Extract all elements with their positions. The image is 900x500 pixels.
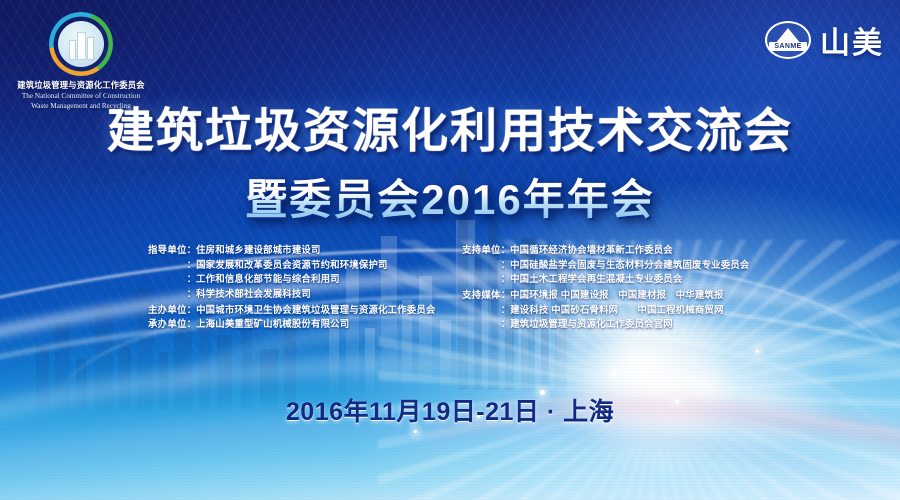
sanme-logo: SANME 山美: [765, 18, 884, 62]
org-separator-spacer: ：: [501, 258, 510, 273]
org-separator-spacer: ：: [501, 317, 510, 332]
org-separator-spacer: ：: [187, 287, 196, 302]
org-value: 中国硅酸盐学会固废与生态材料分会建筑固废专业委员会: [510, 258, 749, 273]
org-separator-spacer: ：: [501, 303, 510, 318]
org-row-guidance: 指导单位 ： 科学技术部社会发展科技司: [148, 287, 435, 302]
page-title: 建筑垃圾资源化利用技术交流会: [0, 92, 900, 161]
org-separator: ：: [187, 317, 196, 332]
sanme-brand-cn: 山美: [820, 18, 884, 62]
org-value: 中国环境报 中国建设报 中国建材报 中华建筑报: [510, 288, 723, 303]
page-subtitle: 暨委员会2016年年会: [0, 166, 900, 227]
organization-column-left: 指导单位 ： 住房和城乡建设部城市建设司 指导单位 ： 国家发展和改革委员会资源…: [148, 243, 435, 332]
org-value: 科学技术部社会发展科技司: [196, 287, 311, 302]
org-separator-spacer: ：: [187, 272, 196, 287]
org-row-guidance: 指导单位 ： 工作和信息化部节能与综合利用司: [148, 272, 435, 287]
org-separator-spacer: ：: [187, 258, 196, 273]
org-value: 上海山美重型矿山机械股份有限公司: [196, 317, 349, 332]
org-row-guidance: 指导单位 ： 住房和城乡建设部城市建设司: [148, 243, 435, 258]
org-label-support: 支持单位: [462, 243, 501, 258]
org-value: 国家发展和改革委员会资源节约和环境保护司: [196, 258, 388, 273]
org-row-guidance: 指导单位 ： 国家发展和改革委员会资源节约和环境保护司: [148, 258, 435, 273]
sanme-wordmark: SANME: [769, 42, 807, 51]
committee-name-cn: 建筑垃圾管理与资源化工作委员会: [6, 79, 156, 91]
org-row-host: 主办单位 ： 中国城市环境卫生协会建筑垃圾管理与资源化工作委员会: [148, 303, 435, 318]
org-separator-spacer: ：: [501, 272, 510, 287]
org-value: 中国循环经济协会墙材革新工作委员会: [510, 243, 673, 258]
sanme-badge-icon: SANME: [765, 21, 811, 59]
conference-banner: 建筑垃圾管理与资源化工作委员会 The National Committee o…: [0, 0, 900, 500]
org-value: 住房和城乡建设部城市建设司: [196, 243, 320, 258]
org-row-media: 支持媒体 ： 建筑垃圾管理与资源化工作委员会官网: [462, 317, 749, 332]
logo-building-icon: [69, 40, 76, 60]
organization-column-right: 支持单位 ： 中国循环经济协会墙材革新工作委员会 支持单位 ： 中国硅酸盐学会固…: [462, 243, 749, 332]
org-row-media: 支持媒体 ： 建设科技 中国砂石骨料网 中国工程机械商贸网: [462, 303, 749, 318]
committee-logo-icon: [49, 12, 113, 76]
org-row-support: 支持单位 ： 中国循环经济协会墙材革新工作委员会: [462, 243, 749, 258]
org-value: 建设科技 中国砂石骨料网 中国工程机械商贸网: [510, 303, 723, 318]
org-value: 工作和信息化部节能与综合利用司: [196, 272, 340, 287]
org-value: 建筑垃圾管理与资源化工作委员会官网: [510, 317, 673, 332]
org-row-media: 支持媒体 ： 中国环境报 中国建设报 中国建材报 中华建筑报: [462, 288, 749, 303]
org-label-organizer: 承办单位: [148, 317, 187, 332]
org-separator: ：: [501, 243, 510, 258]
org-separator: ：: [187, 243, 196, 258]
org-row-organizer: 承办单位 ： 上海山美重型矿山机械股份有限公司: [148, 317, 435, 332]
org-row-support: 支持单位 ： 中国土木工程学会再生混凝土专业委员会: [462, 272, 749, 287]
org-value: 中国土木工程学会再生混凝土专业委员会: [510, 272, 682, 287]
org-separator: ：: [187, 303, 196, 318]
org-separator: ：: [501, 288, 510, 303]
org-label-guidance: 指导单位: [148, 243, 187, 258]
organization-section: 指导单位 ： 住房和城乡建设部城市建设司 指导单位 ： 国家发展和改革委员会资源…: [0, 243, 900, 353]
org-label-media: 支持媒体: [462, 288, 501, 303]
date-location: 2016年11月19日-21日 · 上海: [0, 392, 900, 428]
org-value: 中国城市环境卫生协会建筑垃圾管理与资源化工作委员会: [196, 303, 435, 318]
org-label-host: 主办单位: [148, 303, 187, 318]
org-row-support: 支持单位 ： 中国硅酸盐学会固废与生态材料分会建筑固废专业委员会: [462, 258, 749, 273]
logo-building-icon: [77, 32, 86, 60]
logo-building-icon: [87, 37, 94, 60]
